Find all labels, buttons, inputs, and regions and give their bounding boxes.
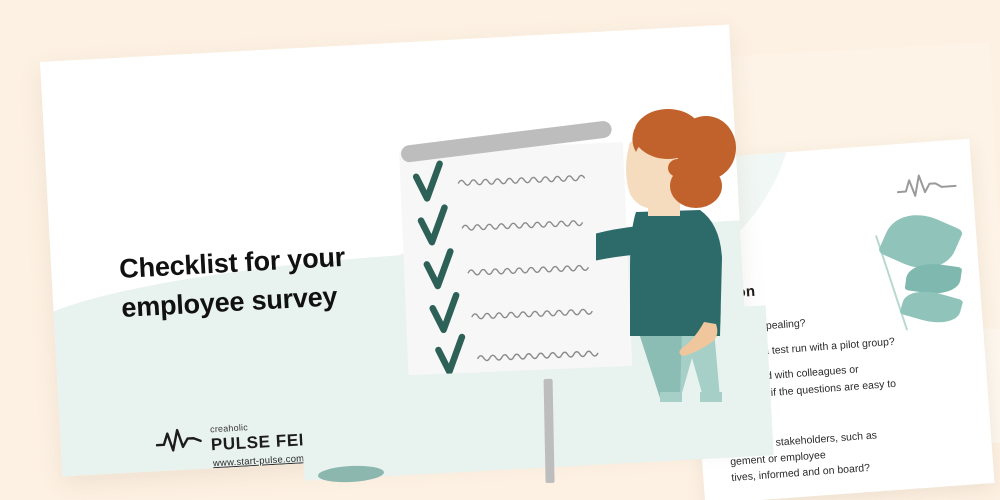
pulse-waveform-icon [155,427,202,455]
scribble-line [462,220,582,230]
scribble-line [458,175,584,185]
scribble-line [472,309,592,319]
scribble-line [478,351,598,361]
person-illustration [596,108,786,500]
checkmark-icon [426,251,451,286]
scribble-line [468,265,588,275]
trousers-right [638,330,682,400]
pulse-waveform-icon [895,170,959,200]
poster-canvas: aration design appealing? ou done a test… [0,0,1000,500]
shoe-left [660,392,682,402]
checkmark-icon [438,337,463,372]
checkmark-icon [421,208,446,243]
person-figure [596,108,786,500]
checkmark-icon [432,295,457,330]
hair-ear-lock [668,159,688,177]
shoe-right [700,392,722,402]
checkmark-icon [416,164,441,199]
